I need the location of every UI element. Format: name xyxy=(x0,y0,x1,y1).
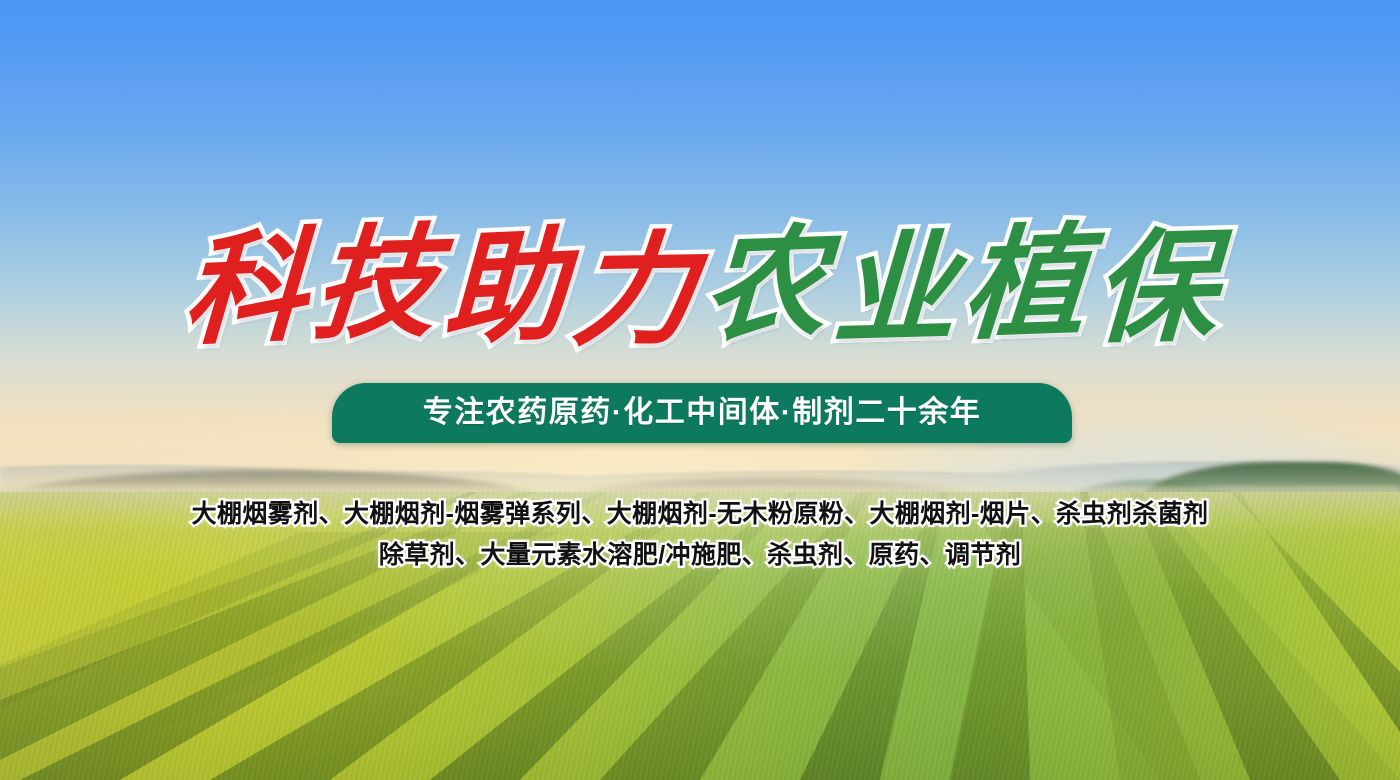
product-list: 大棚烟雾剂、大棚烟剂-烟雾弹系列、大棚烟剂-无木粉原粉、大棚烟剂-烟片、杀虫剂杀… xyxy=(0,498,1400,572)
promo-banner: 科 技 助 力 农 业 植 保 专注农药原药·化工中间体·制剂二十余年 大棚烟雾… xyxy=(0,0,1400,780)
product-line-2: 除草剂、大量元素水溶肥/冲施肥、杀虫剂、原药、调节剂 xyxy=(379,539,1021,572)
product-line-1: 大棚烟雾剂、大棚烟剂-烟雾弹系列、大棚烟剂-无木粉原粉、大棚烟剂-烟片、杀虫剂杀… xyxy=(192,498,1209,531)
subtitle-text: 专注农药原药·化工中间体·制剂二十余年 xyxy=(423,398,981,428)
subtitle-banner: 专注农药原药·化工中间体·制剂二十余年 xyxy=(332,383,1072,443)
